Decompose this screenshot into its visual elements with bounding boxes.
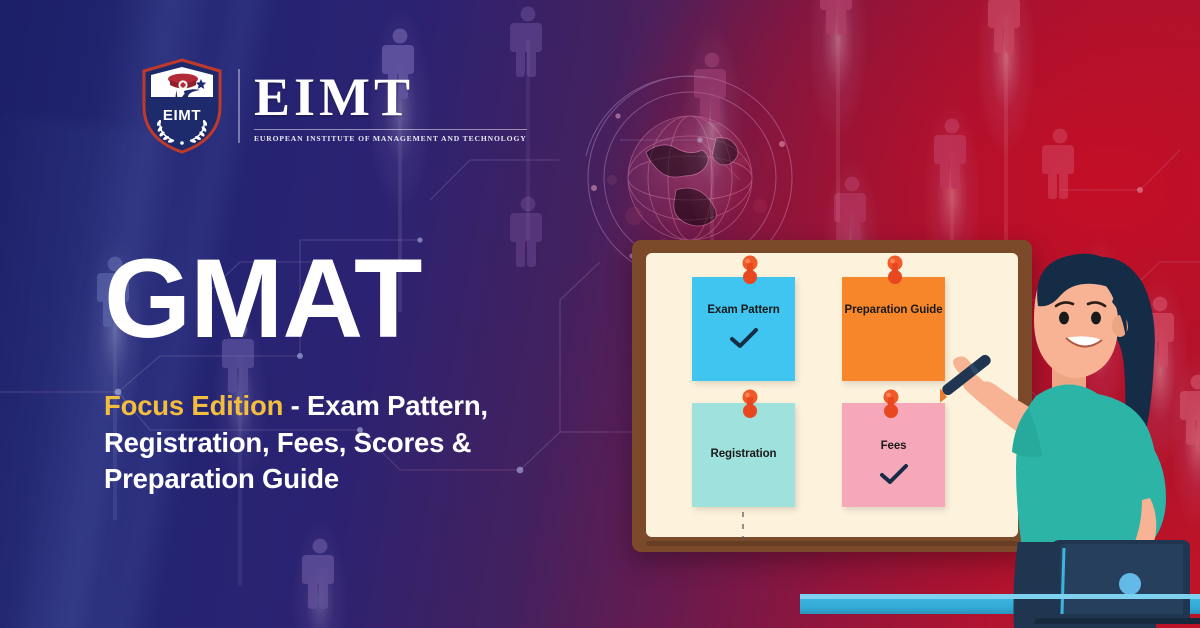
brand-logo[interactable]: EIMT <box>140 58 527 154</box>
note-label: Registration <box>711 447 777 462</box>
subtitle-accent: Focus Edition <box>104 390 283 421</box>
pushpin-icon <box>737 389 763 419</box>
eye-right <box>1091 312 1101 325</box>
page-title: GMAT <box>104 243 421 355</box>
note-label: Fees <box>881 439 907 454</box>
checkmark-icon <box>729 328 759 350</box>
dashed-connector <box>742 512 744 542</box>
desk-highlight <box>800 594 1200 599</box>
page-subtitle: Focus Edition - Exam Pattern, Registrati… <box>104 388 574 498</box>
eye-left <box>1059 312 1069 325</box>
pushpin-icon <box>737 255 763 285</box>
note-label: Exam Pattern <box>707 303 779 318</box>
logo-tagline: EUROPEAN INSTITUTE OF MANAGEMENT AND TEC… <box>254 134 527 143</box>
gmat-promo-banner: EIMT <box>0 0 1200 628</box>
logo-wordmark: EIMT <box>254 70 527 124</box>
logo-wordmark-block: EIMT EUROPEAN INSTITUTE OF MANAGEMENT AN… <box>254 70 527 143</box>
sticky-note-preparation-guide[interactable]: Preparation Guide <box>842 277 945 381</box>
svg-text:EIMT: EIMT <box>163 107 201 124</box>
light-streak <box>0 112 171 628</box>
laptop-icon <box>1034 540 1200 624</box>
pushpin-icon <box>878 389 904 419</box>
checkmark-icon <box>879 464 909 486</box>
sticky-note-exam-pattern[interactable]: Exam Pattern <box>692 277 795 381</box>
logo-rule <box>254 129 527 130</box>
pushpin-icon <box>882 255 908 285</box>
woman-presenter-illustration <box>940 230 1200 628</box>
logo-divider <box>238 69 240 143</box>
eimt-shield-icon: EIMT <box>140 58 224 154</box>
note-label: Preparation Guide <box>845 303 943 318</box>
